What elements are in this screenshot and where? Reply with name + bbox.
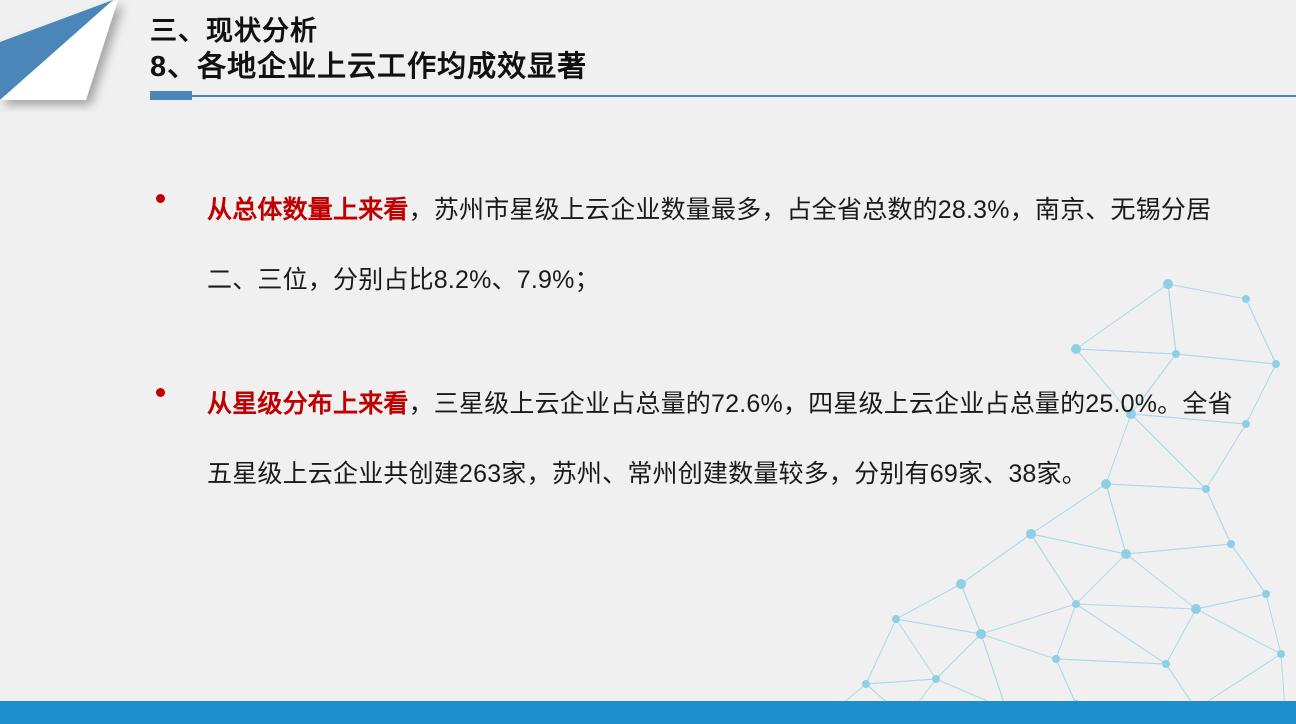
title-underline-rule <box>150 95 1296 97</box>
list-item: 从总体数量上来看，苏州市星级上云企业数量最多，占全省总数的28.3%，南京、无锡… <box>150 175 1240 315</box>
blue-arrow-mark-icon <box>0 0 150 112</box>
page-title-section: 三、现状分析 <box>150 14 1290 48</box>
slide-canvas: 三、现状分析 8、各地企业上云工作均成效显著 从总体数量上来看，苏州市星级上云企… <box>0 0 1296 724</box>
bullet-text: 从星级分布上来看，三星级上云企业占总量的72.6%，四星级上云企业占总量的25.… <box>207 369 1240 509</box>
title-underline-accent <box>150 91 192 100</box>
bullet-dot-icon <box>156 388 165 397</box>
slide-body: 从总体数量上来看，苏州市星级上云企业数量最多，占全省总数的28.3%，南京、无锡… <box>150 175 1240 515</box>
bullet-lead-label: 从星级分布上来看 <box>207 390 409 418</box>
bullet-text: 从总体数量上来看，苏州市星级上云企业数量最多，占全省总数的28.3%，南京、无锡… <box>207 175 1240 315</box>
page-title-main: 8、各地企业上云工作均成效显著 <box>150 48 1290 86</box>
bullet-lead-label: 从总体数量上来看 <box>207 196 409 224</box>
list-item: 从星级分布上来看，三星级上云企业占总量的72.6%，四星级上云企业占总量的25.… <box>150 369 1240 509</box>
title-block: 三、现状分析 8、各地企业上云工作均成效显著 <box>150 14 1290 86</box>
slide-header: 三、现状分析 8、各地企业上云工作均成效显著 <box>0 0 1296 112</box>
footer-bar <box>0 701 1296 724</box>
bullet-dot-icon <box>156 194 165 203</box>
